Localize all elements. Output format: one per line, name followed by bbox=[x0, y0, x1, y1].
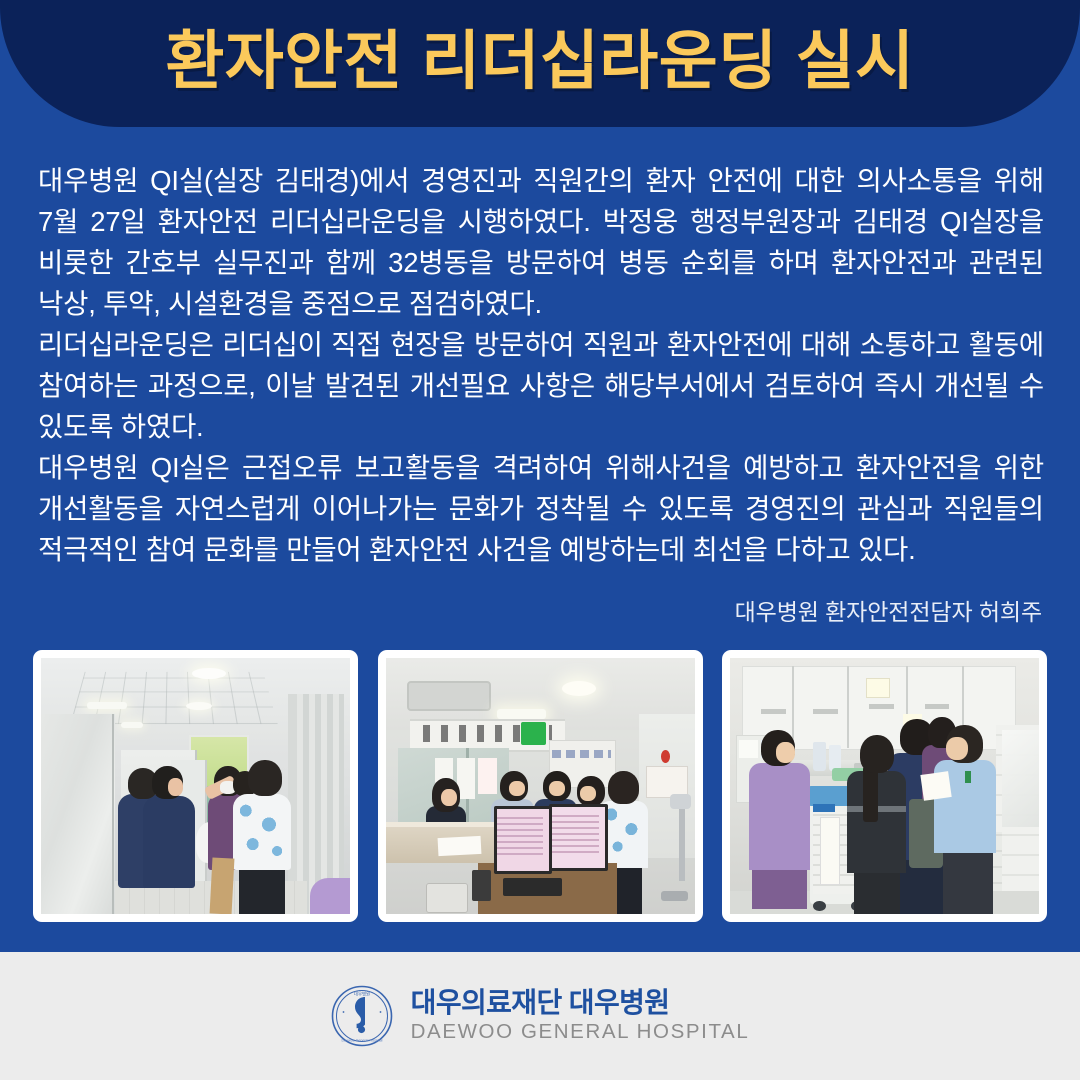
byline: 대우병원 환자안전전담자 허희주 bbox=[735, 598, 1042, 626]
photo-image-3 bbox=[730, 658, 1039, 914]
photo-image-2 bbox=[386, 658, 695, 914]
emblem-kr-text: 대우병원 bbox=[354, 991, 370, 998]
hospital-logo: 대우병원 Daewoo General Hospital 대우의료재단 대우병원… bbox=[331, 985, 750, 1047]
page-title: 환자안전 리더십라운딩 실시 bbox=[165, 29, 914, 93]
photo-image-1 bbox=[41, 658, 350, 914]
poster-footer: 대우병원 Daewoo General Hospital 대우의료재단 대우병원… bbox=[0, 952, 1080, 1080]
hospital-emblem-icon: 대우병원 Daewoo General Hospital bbox=[331, 985, 393, 1047]
poster-header: 환자안전 리더십라운딩 실시 bbox=[0, 0, 1080, 127]
paragraph-1: 대우병원 QI실(실장 김태경)에서 경영진과 직원간의 환자 안전에 대한 의… bbox=[38, 160, 1044, 324]
paragraph-3: 대우병원 QI실은 근접오류 보고활동을 격려하여 위해사건을 예방하고 환자안… bbox=[38, 447, 1044, 570]
poster-canvas: 환자안전 리더십라운딩 실시 대우병원 QI실(실장 김태경)에서 경영진과 직… bbox=[0, 0, 1080, 1080]
article-body: 대우병원 QI실(실장 김태경)에서 경영진과 직원간의 환자 안전에 대한 의… bbox=[38, 160, 1044, 570]
photo-nurses-station-briefing bbox=[378, 650, 703, 922]
hospital-name-en: DAEWOO GENERAL HOSPITAL bbox=[411, 1021, 750, 1044]
paragraph-2: 리더십라운딩은 리더십이 직접 현장을 방문하여 직원과 환자안전에 대해 소통… bbox=[38, 324, 1044, 447]
hospital-name-kr: 대우의료재단 대우병원 bbox=[411, 988, 750, 1019]
hospital-logo-text: 대우의료재단 대우병원 DAEWOO GENERAL HOSPITAL bbox=[411, 988, 750, 1043]
photo-medication-room-inspection bbox=[722, 650, 1047, 922]
photo-ward-restroom-inspection bbox=[33, 650, 358, 922]
emblem-en-text: Daewoo General Hospital bbox=[341, 1039, 382, 1043]
photo-gallery bbox=[33, 650, 1047, 922]
